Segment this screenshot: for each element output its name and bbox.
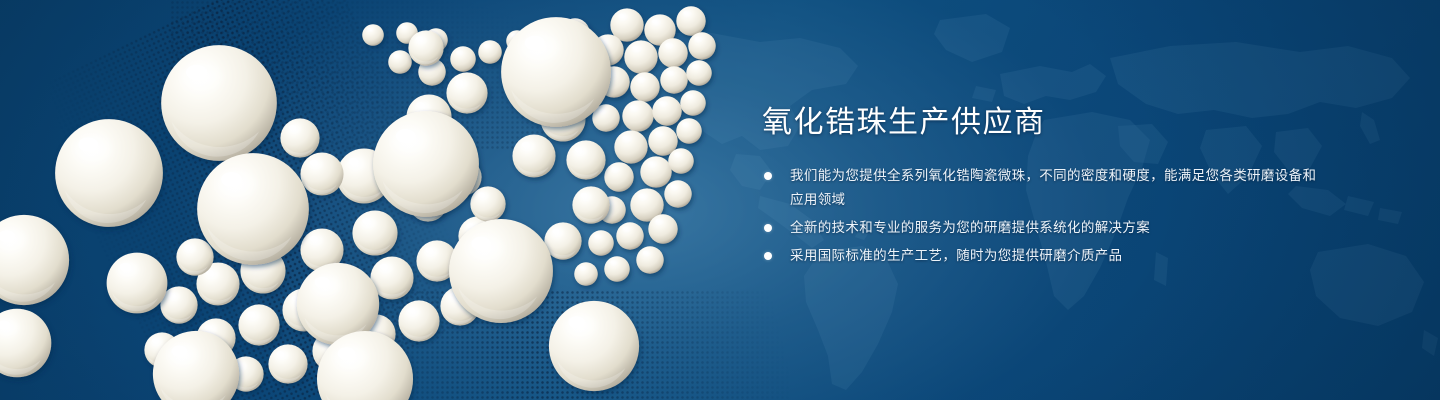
bullet-dot-icon <box>764 172 772 180</box>
bullet-dot-icon <box>764 224 772 232</box>
zirconia-bead-cluster-image <box>0 0 780 400</box>
bullet-dot-icon <box>764 252 772 260</box>
list-item: 全新的技术和专业的服务为您的研磨提供系统化的解决方案 <box>762 216 1322 240</box>
list-item: 采用国际标准的生产工艺，随时为您提供研磨介质产品 <box>762 244 1322 268</box>
list-item-label: 采用国际标准的生产工艺，随时为您提供研磨介质产品 <box>790 248 1122 263</box>
page-title: 氧化锆珠生产供应商 <box>762 104 1322 142</box>
hero-text-panel: 氧化锆珠生产供应商 我们能为您提供全系列氧化锆陶瓷微珠，不同的密度和硬度，能满足… <box>762 104 1322 272</box>
list-item-label: 我们能为您提供全系列氧化锆陶瓷微珠，不同的密度和硬度，能满足您各类研磨设备和应用… <box>790 168 1316 207</box>
feature-list: 我们能为您提供全系列氧化锆陶瓷微珠，不同的密度和硬度，能满足您各类研磨设备和应用… <box>762 164 1322 268</box>
hero-banner: 氧化锆珠生产供应商 我们能为您提供全系列氧化锆陶瓷微珠，不同的密度和硬度，能满足… <box>0 0 1440 400</box>
list-item-label: 全新的技术和专业的服务为您的研磨提供系统化的解决方案 <box>790 220 1150 235</box>
list-item: 我们能为您提供全系列氧化锆陶瓷微珠，不同的密度和硬度，能满足您各类研磨设备和应用… <box>762 164 1322 212</box>
